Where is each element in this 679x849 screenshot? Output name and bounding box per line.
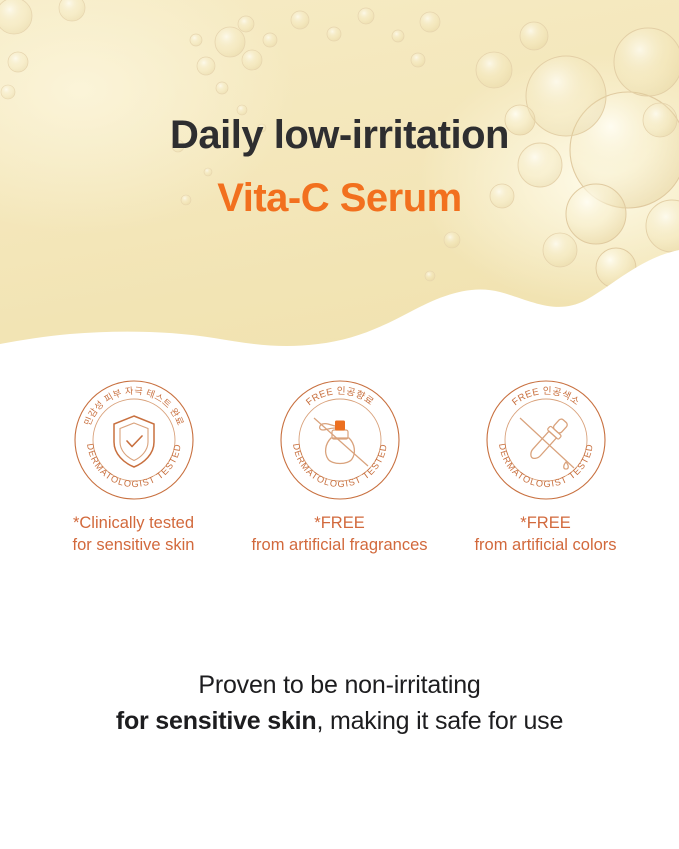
badge-caption-line-2: from artificial fragrances xyxy=(251,534,427,556)
check-icon xyxy=(127,436,142,447)
svg-text:DERMATOLOGIST TESTED: DERMATOLOGIST TESTED xyxy=(85,443,183,489)
closing-statement: Proven to be non-irritating for sensitiv… xyxy=(0,668,679,739)
statement-line-2-rest: , making it safe for use xyxy=(316,707,563,735)
hero-serum-banner: Daily low-irritation Vita-C Serum xyxy=(0,0,679,360)
statement-line-1: Proven to be non-irritating xyxy=(0,668,679,704)
seal-top-arc-text: FREE 인공색소 xyxy=(510,386,581,408)
badge-caption: *Clinically tested for sensitive skin xyxy=(73,512,195,557)
badge-caption: *FREE from artificial fragrances xyxy=(251,512,427,557)
badge-clinically-tested: 민감성 피부 자극 테스트 완료 DERMATOLOGIST TESTED *C… xyxy=(36,378,231,557)
product-marketing-page: Daily low-irritation Vita-C Serum 민감성 피부… xyxy=(0,0,679,849)
seal-shield-check-icon: 민감성 피부 자극 테스트 완료 DERMATOLOGIST TESTED xyxy=(72,378,196,502)
droplet-icon xyxy=(563,462,568,469)
dropper-bulb-icon xyxy=(552,418,568,434)
headline: Daily low-irritation Vita-C Serum xyxy=(0,112,679,222)
badge-fragrance-free: FREE 인공향료 DERMATOLOGIST TESTED *FREE fro… xyxy=(242,378,437,557)
dropper-icon xyxy=(526,416,570,462)
badge-caption: *FREE from artificial colors xyxy=(474,512,616,557)
seal-bottom-arc-text: DERMATOLOGIST TESTED xyxy=(85,443,183,489)
headline-line-1: Daily low-irritation xyxy=(0,112,679,159)
prohibition-slash-icon xyxy=(520,418,574,468)
badge-caption-line-2: for sensitive skin xyxy=(73,534,195,556)
seal-no-dropper-icon: FREE 인공색소 DERMATOLOGIST TESTED xyxy=(484,378,608,502)
svg-text:FREE 인공색소: FREE 인공색소 xyxy=(510,386,581,408)
badge-caption-line-1: *FREE xyxy=(251,512,427,534)
badge-color-free: FREE 인공색소 DERMATOLOGIST TESTED *FREE fro… xyxy=(448,378,643,557)
seal-top-arc-text: FREE 인공향료 xyxy=(304,386,375,408)
svg-text:DERMATOLOGIST TESTED: DERMATOLOGIST TESTED xyxy=(291,443,389,489)
badge-caption-line-2: from artificial colors xyxy=(474,534,616,556)
headline-line-2-product-name: Vita-C Serum xyxy=(0,175,679,222)
svg-text:FREE 인공향료: FREE 인공향료 xyxy=(304,386,375,408)
bottle-cap-icon xyxy=(335,421,344,430)
shield-inner-icon xyxy=(120,423,148,461)
statement-line-2: for sensitive skin, making it safe for u… xyxy=(0,704,679,740)
statement-emphasis: for sensitive skin xyxy=(116,707,317,735)
seal-bottom-arc-text: DERMATOLOGIST TESTED xyxy=(291,443,389,489)
badge-caption-line-1: *FREE xyxy=(474,512,616,534)
dropper-tube-icon xyxy=(528,431,556,461)
seal-no-fragrance-bottle-icon: FREE 인공향료 DERMATOLOGIST TESTED xyxy=(278,378,402,502)
certification-badges: 민감성 피부 자극 테스트 완료 DERMATOLOGIST TESTED *C… xyxy=(0,378,679,557)
badge-caption-line-1: *Clinically tested xyxy=(73,512,195,534)
